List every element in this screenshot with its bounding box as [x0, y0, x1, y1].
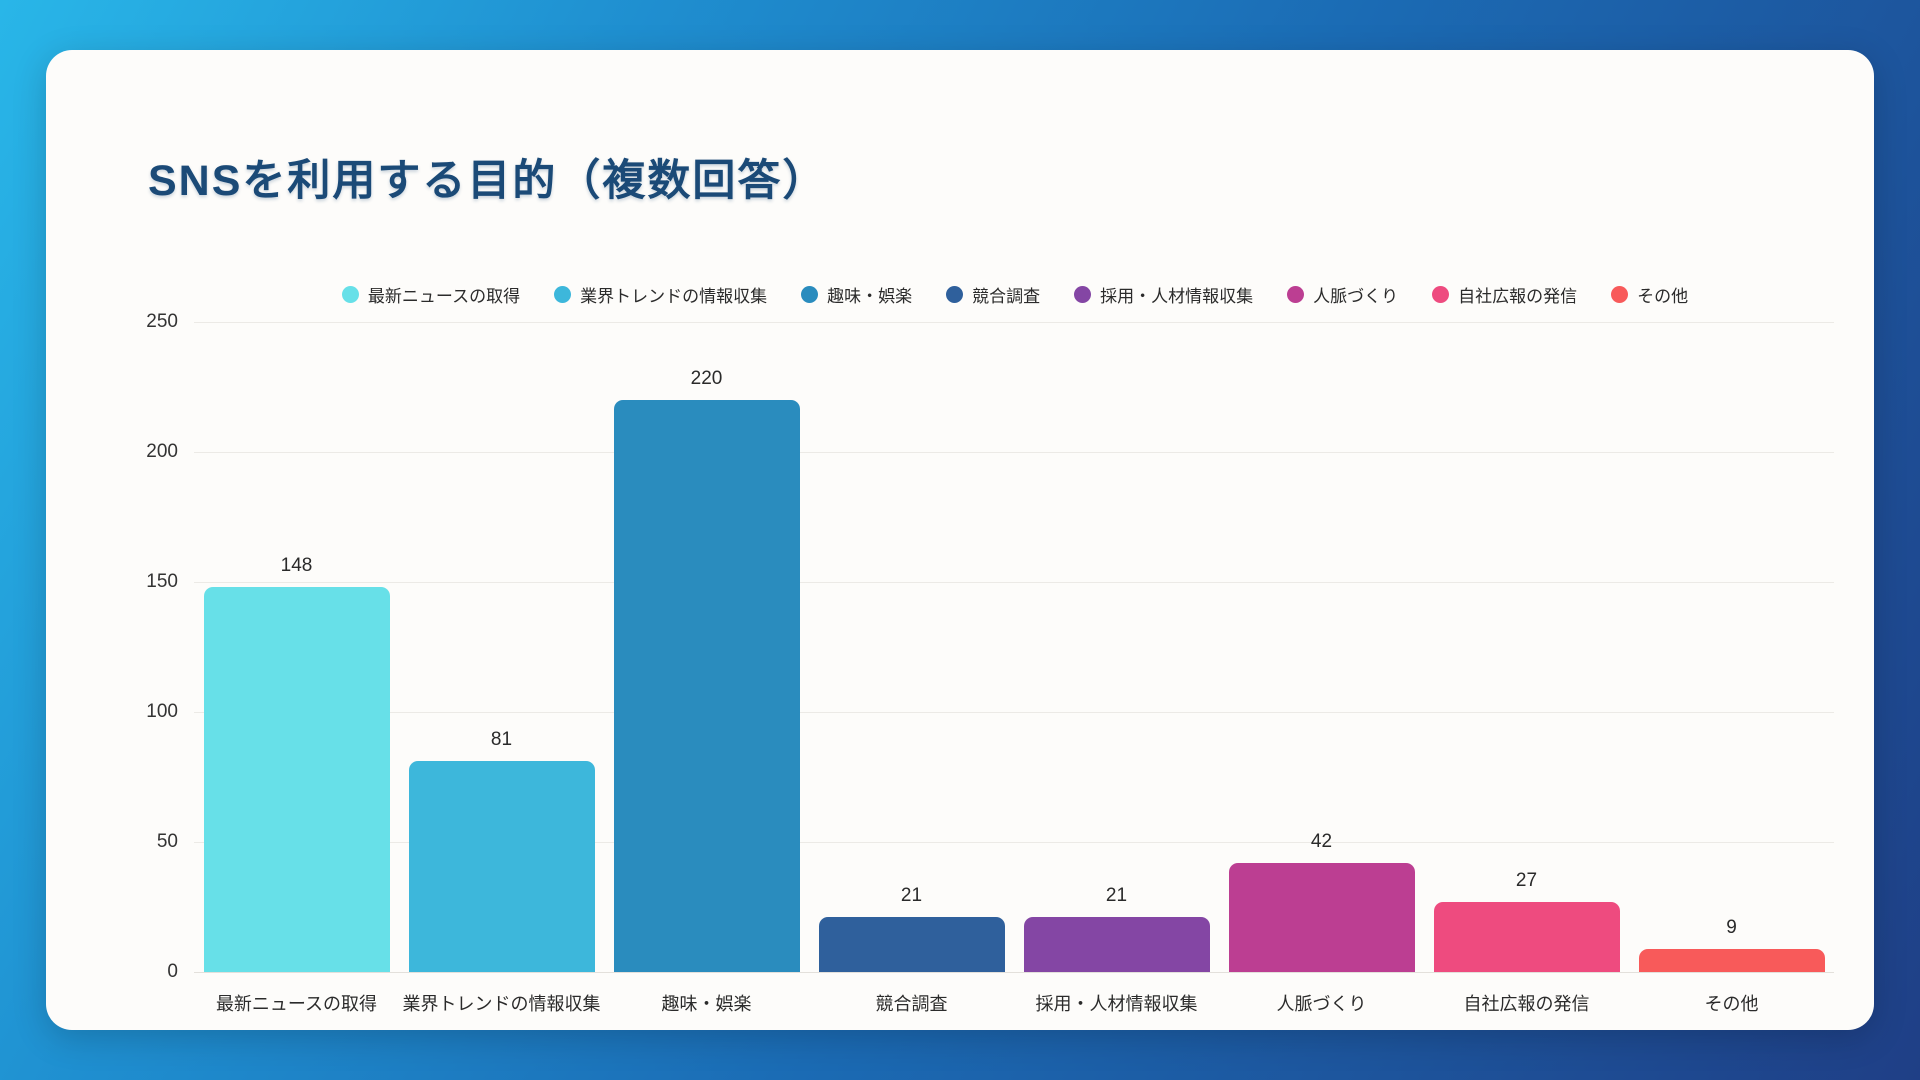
legend-item-label: 人脈づくり	[1313, 282, 1398, 307]
legend-item[interactable]: 人脈づくり	[1287, 282, 1398, 307]
legend-swatch-icon	[342, 286, 359, 303]
chart-legend: 最新ニュースの取得業界トレンドの情報収集趣味・娯楽競合調査採用・人材情報収集人脈…	[46, 282, 1874, 307]
y-axis-tick-label: 100	[146, 701, 178, 723]
legend-item-label: その他	[1637, 282, 1688, 307]
plot-area: 250200150100500 148最新ニュースの取得81業界トレンドの情報収…	[194, 322, 1834, 972]
bar-group: 148最新ニュースの取得	[194, 322, 399, 972]
y-axis-tick-label: 0	[167, 961, 178, 983]
bar[interactable]	[819, 917, 1005, 972]
bar-value-label: 148	[194, 555, 399, 577]
bar-group: 220趣味・娯楽	[604, 322, 809, 972]
bar[interactable]	[1229, 863, 1415, 972]
legend-swatch-icon	[1074, 286, 1091, 303]
bar-group: 27自社広報の発信	[1424, 322, 1629, 972]
legend-item-label: 業界トレンドの情報収集	[580, 282, 767, 307]
bar[interactable]	[1639, 949, 1825, 972]
bar-value-label: 21	[809, 885, 1014, 907]
bar[interactable]	[1024, 917, 1210, 972]
legend-swatch-icon	[1432, 286, 1449, 303]
bar-group: 9その他	[1629, 322, 1834, 972]
legend-item-label: 自社広報の発信	[1458, 282, 1577, 307]
y-axis-tick-label: 50	[157, 831, 178, 853]
legend-item-label: 最新ニュースの取得	[368, 282, 520, 307]
bar-value-label: 220	[604, 368, 809, 390]
legend-swatch-icon	[801, 286, 818, 303]
bar[interactable]	[204, 587, 390, 972]
bar[interactable]	[409, 761, 595, 972]
y-axis-tick-label: 250	[146, 311, 178, 333]
bar-value-label: 21	[1014, 885, 1219, 907]
legend-item[interactable]: 最新ニュースの取得	[342, 282, 520, 307]
legend-item[interactable]: 自社広報の発信	[1432, 282, 1577, 307]
bar-group: 81業界トレンドの情報収集	[399, 322, 604, 972]
legend-swatch-icon	[1611, 286, 1628, 303]
bar-value-label: 81	[399, 729, 604, 751]
y-axis-tick-label: 200	[146, 441, 178, 463]
legend-item-label: 採用・人材情報収集	[1100, 282, 1253, 307]
legend-swatch-icon	[554, 286, 571, 303]
bar-group: 21採用・人材情報収集	[1014, 322, 1219, 972]
bar-series: 148最新ニュースの取得81業界トレンドの情報収集220趣味・娯楽21競合調査2…	[194, 322, 1834, 972]
legend-item[interactable]: 採用・人材情報収集	[1074, 282, 1253, 307]
x-axis-tick-label: その他	[1609, 990, 1854, 1016]
bar[interactable]	[614, 400, 800, 972]
legend-item[interactable]: 競合調査	[946, 282, 1040, 307]
bar-group: 21競合調査	[809, 322, 1014, 972]
legend-item[interactable]: 業界トレンドの情報収集	[554, 282, 767, 307]
legend-item[interactable]: 趣味・娯楽	[801, 282, 912, 307]
chart-card: SNSを利用する目的（複数回答） 最新ニュースの取得業界トレンドの情報収集趣味・…	[46, 50, 1874, 1030]
bar-group: 42人脈づくり	[1219, 322, 1424, 972]
y-axis-tick-label: 150	[146, 571, 178, 593]
legend-item-label: 趣味・娯楽	[827, 282, 912, 307]
legend-swatch-icon	[946, 286, 963, 303]
page-title: SNSを利用する目的（複数回答）	[148, 146, 827, 208]
bar[interactable]	[1434, 902, 1620, 972]
bar-value-label: 27	[1424, 870, 1629, 892]
gridline: 0	[194, 972, 1834, 973]
legend-swatch-icon	[1287, 286, 1304, 303]
bar-value-label: 42	[1219, 831, 1424, 853]
bar-value-label: 9	[1629, 917, 1834, 939]
legend-item[interactable]: その他	[1611, 282, 1688, 307]
legend-item-label: 競合調査	[972, 282, 1040, 307]
